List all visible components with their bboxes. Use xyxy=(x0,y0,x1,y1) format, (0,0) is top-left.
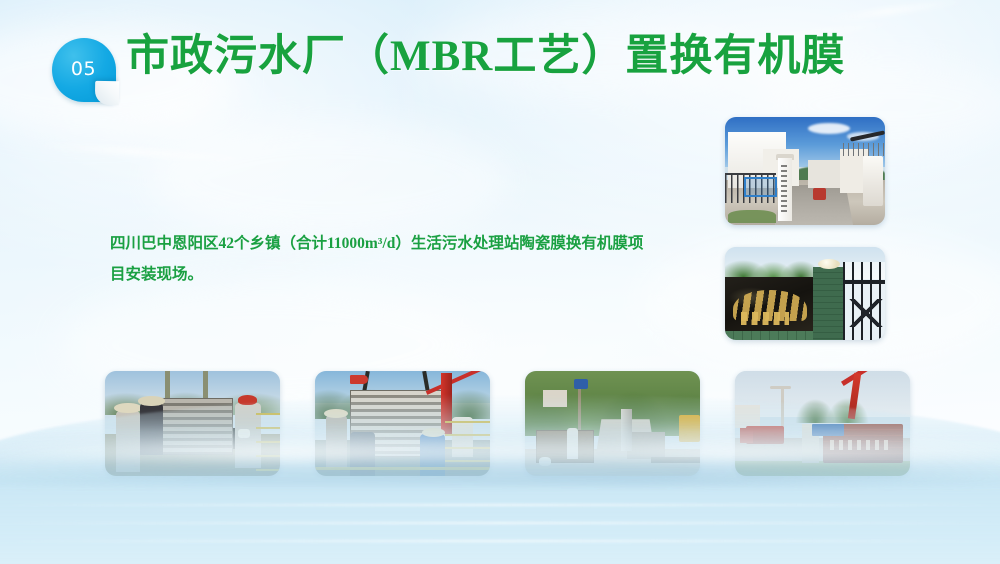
photo-gate-lattice xyxy=(847,299,885,327)
photo-building xyxy=(735,405,760,428)
wave-ripple xyxy=(0,504,1000,506)
photo-building xyxy=(543,390,568,407)
photo-safety-railing xyxy=(256,413,281,472)
photo-railing xyxy=(843,143,885,156)
photo-blue-sign xyxy=(574,379,588,388)
photo-blue-sign xyxy=(812,424,844,437)
photo-worker xyxy=(116,411,141,472)
wave-ripple xyxy=(0,522,1000,524)
photo-person xyxy=(567,428,578,460)
photo-wall xyxy=(808,160,840,188)
project-caption: 四川巴中恩阳区42个乡镇（合计11000m³/d）生活污水处理站陶瓷膜换有机膜项… xyxy=(110,228,650,290)
photo-worker-hat xyxy=(138,396,164,405)
photo-worker xyxy=(140,403,163,456)
photo-pillar-signage xyxy=(781,165,787,215)
photo-gate-pillar xyxy=(621,409,632,451)
photo-trees xyxy=(791,386,872,424)
photo-rural-station-gate: 乡镇污水处理站入口道路与门柱 xyxy=(525,371,700,476)
cloud-wisp-decoration xyxy=(30,142,260,163)
photo-blue-panel xyxy=(744,177,777,196)
photo-grass xyxy=(735,461,910,476)
photo-green-brick-pillar xyxy=(813,267,845,340)
photo-plant-entrance: 污水处理站大门入口，白色围墙与栏杆、门柱标牌 xyxy=(725,117,885,225)
photo-red-flag xyxy=(350,375,368,383)
cloud-decoration xyxy=(150,120,510,240)
cloud-wisp-decoration xyxy=(820,0,969,23)
photo-worker-hat xyxy=(422,428,445,437)
photo-marble-sign-wall: 黑色大理石金字厂名墙与绿色砖柱、铁艺大门 xyxy=(725,247,885,340)
photo-worker xyxy=(326,415,347,468)
photo-worker-red-cap xyxy=(238,395,257,404)
photo-brick-sign-truck: 红砖厂名墙、红色货车与吊车 xyxy=(735,371,910,476)
photo-safety-railing xyxy=(445,421,491,471)
photo-worker-glove xyxy=(238,429,250,438)
photo-hoist-cable xyxy=(203,371,208,398)
photo-hoist-cable xyxy=(165,371,170,400)
photo-membrane-install-workers: 工人在池边安装有机膜组件 xyxy=(105,371,280,476)
photo-truck-cab xyxy=(740,428,752,444)
section-number-badge: 05 xyxy=(52,38,116,102)
photo-gate-rail xyxy=(843,280,885,284)
photo-dog xyxy=(539,457,551,465)
slide-canvas: 05 市政污水厂（MBR工艺）置换有机膜 四川巴中恩阳区42个乡镇（合计1100… xyxy=(0,0,1000,564)
photo-wall-base xyxy=(725,331,818,340)
photo-sign-characters xyxy=(830,440,893,449)
photo-yellow-equipment xyxy=(679,415,700,442)
photo-sign-post xyxy=(578,386,582,432)
wave-ripple xyxy=(0,540,1000,542)
photo-motorbike xyxy=(813,188,826,200)
photo-membrane-rack xyxy=(154,398,233,455)
photo-barrier xyxy=(651,457,700,463)
photo-crane-lifting-rack: 吊车吊装膜架下池 xyxy=(315,371,490,476)
photo-wall xyxy=(627,432,666,459)
photo-shrub xyxy=(728,210,776,223)
photo-guard-tower xyxy=(863,156,884,206)
photo-worker-hat xyxy=(114,403,142,414)
photo-gold-characters xyxy=(741,312,789,325)
page-title: 市政污水厂（MBR工艺）置换有机膜 xyxy=(126,33,845,80)
